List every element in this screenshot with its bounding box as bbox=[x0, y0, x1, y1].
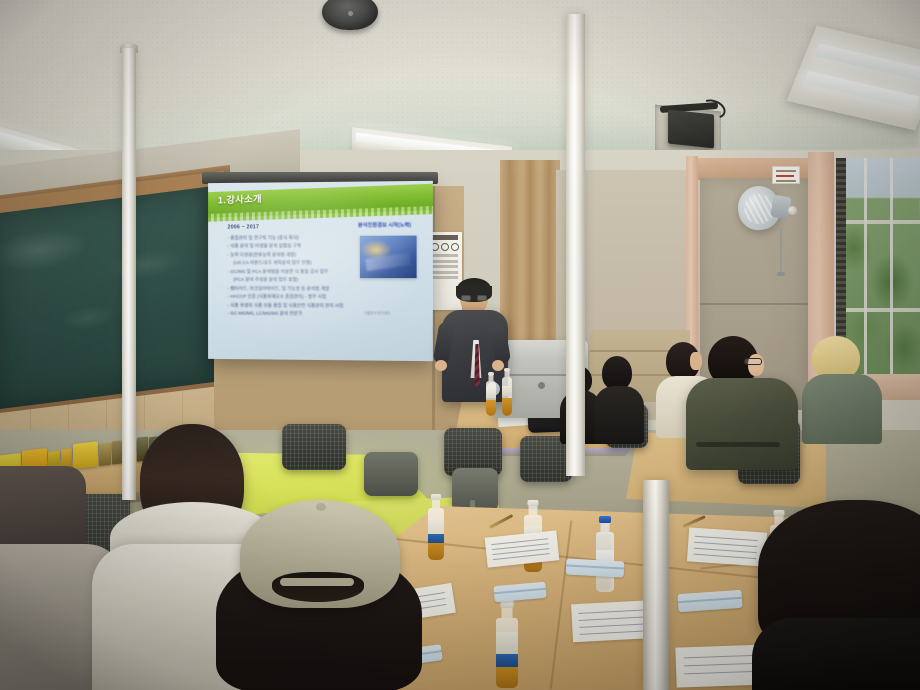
slide-bullet: - 식품 분석 및 미생물 분석 실험실 구축 bbox=[227, 242, 343, 251]
window-blind[interactable] bbox=[836, 158, 846, 366]
slide-title: 1.강사소개 bbox=[218, 191, 262, 207]
lecture-room-photo: 1.강사소개 2006 ~ 2017 - 품질관리 및 연구직 기능 (중식 외… bbox=[0, 0, 920, 690]
projection-screen: 1.강사소개 2006 ~ 2017 - 품질관리 및 연구직 기능 (중식 외… bbox=[208, 181, 433, 361]
cap-strap bbox=[280, 578, 354, 586]
glasses-icon bbox=[744, 358, 762, 365]
window-mullion-v2 bbox=[890, 158, 893, 380]
audience-member bbox=[594, 356, 642, 436]
cap-button bbox=[316, 503, 326, 511]
chair[interactable] bbox=[452, 468, 498, 512]
slide-bullet: - GC-MS/MS, LC/MS/MS 분석 전문가 bbox=[227, 310, 343, 319]
fan-pull-cord[interactable] bbox=[780, 228, 782, 274]
slide-bullet: - 농약 다성분(잔류농약 분석법 개발) bbox=[227, 251, 343, 260]
tea-bottle[interactable] bbox=[502, 368, 512, 416]
audience-member-blonde bbox=[806, 336, 876, 432]
audience-member-front-cap bbox=[206, 500, 426, 690]
wall-knob bbox=[788, 206, 797, 215]
green-chalkboard bbox=[0, 185, 218, 409]
window-mullion-h1 bbox=[836, 220, 920, 224]
face-mask[interactable] bbox=[566, 558, 625, 577]
presenter-hand-left bbox=[435, 360, 447, 371]
wall-notice-sign bbox=[772, 166, 800, 184]
slide-credit: 식품분석 연구센터 bbox=[364, 310, 390, 315]
slide-body: 2006 ~ 2017 - 품질관리 및 연구직 기능 (중식 외식) - 식품… bbox=[227, 224, 343, 319]
slide-side-heading: 분석친환경보 시작(노력) bbox=[358, 221, 411, 228]
window-mullion-h2 bbox=[836, 308, 920, 312]
audience-member-olive-jacket bbox=[692, 336, 788, 452]
tea-bottle[interactable] bbox=[428, 494, 444, 560]
chair[interactable] bbox=[364, 452, 418, 496]
slide-bullet: (US CA 아몬드/호두 위탁분석 업무 진행) bbox=[227, 259, 343, 268]
handout-paper[interactable] bbox=[687, 527, 767, 566]
water-bottle[interactable] bbox=[596, 516, 614, 592]
tea-bottle[interactable] bbox=[486, 372, 496, 416]
tea-bottle[interactable] bbox=[496, 600, 518, 688]
audience-member-front-right bbox=[758, 500, 920, 690]
slide-date-range: 2006 ~ 2017 bbox=[227, 224, 343, 231]
slide-bullet: - GC/MS 및 PCA 분석법을 이용한 식 품질 검사 업무 bbox=[227, 268, 343, 277]
chalk-smudges bbox=[0, 185, 218, 409]
support-pole-center bbox=[566, 14, 585, 476]
support-pole-front bbox=[643, 480, 669, 690]
slide-bullet: - 품질관리 및 연구직 기능 (중식 외식) bbox=[227, 234, 343, 243]
slide-bullet: (PCA 분석 주성분 분석 업무 포함) bbox=[227, 276, 343, 285]
glasses-icon bbox=[461, 295, 487, 301]
slide-photo-lab bbox=[360, 236, 417, 278]
cap-back-opening bbox=[272, 572, 364, 602]
slide-surface: 1.강사소개 2006 ~ 2017 - 품질관리 및 연구직 기능 (중식 외… bbox=[208, 181, 433, 361]
chair[interactable] bbox=[282, 424, 346, 470]
slide-bullet: - 펩타이드, 아크릴아마이드, 및 기능성 등 분석법 개발 bbox=[227, 285, 343, 294]
